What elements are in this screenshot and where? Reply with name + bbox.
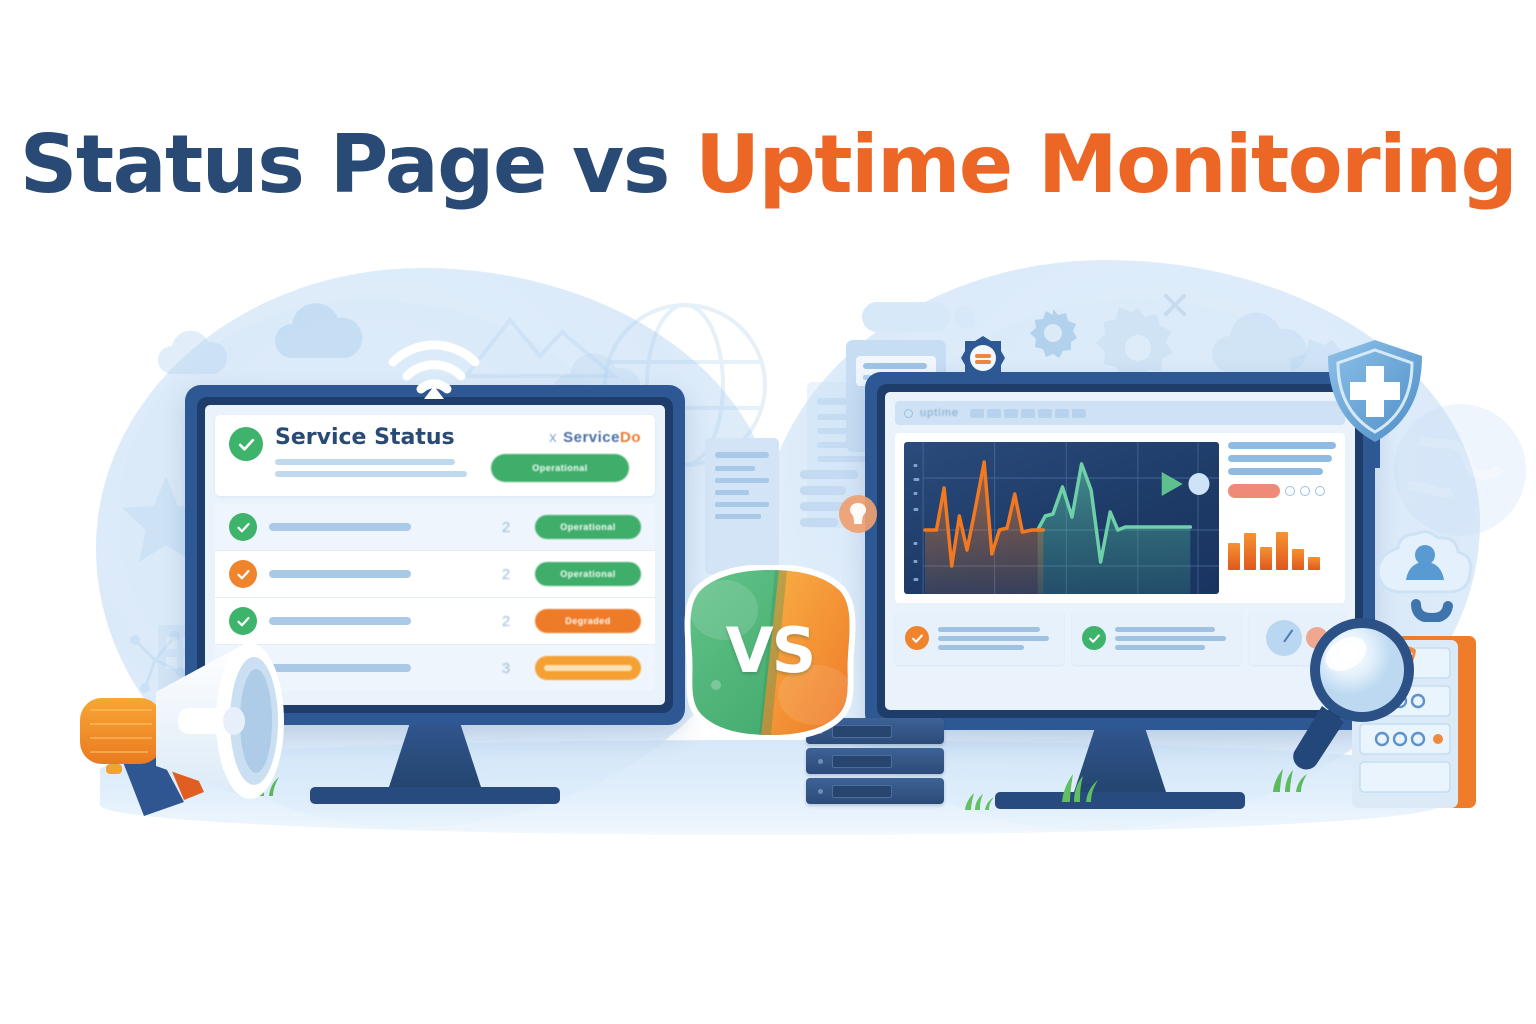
row-value: 2 (489, 566, 523, 583)
alert-pill (1228, 484, 1280, 498)
table-row[interactable]: 2 Operational (215, 504, 655, 551)
bar (1292, 549, 1304, 570)
text-line (1115, 627, 1215, 632)
server-unit (806, 778, 944, 804)
address-bar[interactable]: uptime (895, 401, 1345, 425)
chart-svg (904, 442, 1219, 594)
side-text-line (1228, 455, 1332, 462)
card-text-lines (1115, 627, 1231, 650)
title-part-uptime-monitoring: Uptime Monitoring (695, 118, 1516, 211)
header-status-badge[interactable]: Operational (491, 454, 629, 482)
monitor-base-right (995, 792, 1245, 809)
bar (1244, 533, 1256, 570)
check-circle-icon (229, 513, 257, 541)
brand-name: Service (563, 429, 620, 446)
magnifying-glass-icon (1278, 612, 1423, 772)
title-part-status-page: Status Page vs (20, 118, 695, 211)
check-circle-icon (905, 626, 929, 650)
side-text-line (1228, 442, 1336, 449)
medal-icon (960, 335, 1006, 381)
placeholder-bar (275, 471, 467, 477)
check-circle-icon (229, 427, 263, 461)
server-unit (806, 748, 944, 774)
row-label-bar (269, 570, 411, 578)
page-title: Status Page vs Uptime Monitoring (0, 118, 1536, 211)
shield-health-icon (1322, 338, 1428, 468)
grass-decoration (1058, 772, 1104, 807)
row-badge-cell: Operational (535, 562, 641, 586)
card-text-lines (938, 627, 1054, 650)
row-value: 2 (489, 519, 523, 536)
status-badge[interactable] (535, 656, 641, 680)
status-card[interactable] (1072, 611, 1241, 665)
row-badge-cell: Degraded (535, 609, 641, 633)
text-line (1115, 645, 1205, 650)
status-badge[interactable]: Operational (535, 562, 641, 586)
brand-suffix: Do (620, 429, 641, 446)
incident-bar-chart[interactable] (1228, 512, 1336, 570)
row-label-bar (269, 523, 411, 531)
wifi-icon (385, 336, 483, 402)
bar (1228, 543, 1240, 570)
check-circle-icon (1082, 626, 1106, 650)
brand-logo: xServiceDo (491, 429, 641, 446)
side-metric-row (1228, 484, 1336, 498)
lock-icon (838, 494, 878, 534)
monitor-base-left (310, 787, 560, 804)
row-badge-cell: Operational (535, 515, 641, 539)
url-blur-segments (970, 409, 1086, 418)
check-circle-icon (229, 560, 257, 588)
decor-cloud-icon (150, 330, 240, 384)
status-card[interactable] (895, 611, 1064, 665)
chart-side-panel (1228, 442, 1336, 594)
decor-close-icon (1160, 290, 1190, 320)
placeholder-bar (275, 459, 455, 465)
text-line (1115, 636, 1226, 641)
illustration-canvas: Status Page vs Uptime Monitoring Service… (0, 0, 1536, 1024)
dashboard-body (895, 433, 1345, 603)
header-right-group: xServiceDo Operational (491, 427, 641, 482)
bar (1308, 557, 1320, 570)
circle-icon (904, 409, 913, 418)
status-badge[interactable]: Operational (535, 515, 641, 539)
decor-cloud-icon-2 (262, 300, 382, 370)
row-value: 2 (489, 613, 523, 630)
side-text-line (1228, 468, 1323, 475)
background-card-list (705, 438, 783, 583)
circle-icon (1315, 486, 1325, 496)
grass-decoration (962, 790, 996, 815)
table-row[interactable]: 2 Operational (215, 551, 655, 598)
status-badge[interactable]: Degraded (535, 609, 641, 633)
service-status-title: Service Status (275, 427, 479, 449)
row-value: 3 (489, 660, 523, 677)
monitor-neck-left (389, 725, 481, 787)
bar (1276, 532, 1288, 570)
text-line (938, 627, 1040, 632)
circle-icon (1285, 486, 1295, 496)
background-card-top (862, 302, 974, 337)
vs-badge: VS (684, 565, 856, 740)
text-line (938, 636, 1049, 641)
text-line (938, 645, 1024, 650)
gear-icon (1026, 306, 1080, 360)
vs-label: VS (684, 565, 856, 740)
service-status-header-card: Service Status xServiceDo Operational (215, 415, 655, 496)
circle-icon (1300, 486, 1310, 496)
uptime-chart[interactable] (904, 442, 1219, 594)
brand-prefix: x (549, 429, 557, 446)
decor-mountain-icon (462, 300, 622, 380)
url-text: uptime (920, 407, 959, 419)
cloud-user-icon (1370, 530, 1482, 622)
row-badge-cell (535, 656, 641, 680)
bar (1260, 547, 1272, 570)
megaphone-icon (58, 626, 328, 826)
row-label-bar (269, 617, 411, 625)
